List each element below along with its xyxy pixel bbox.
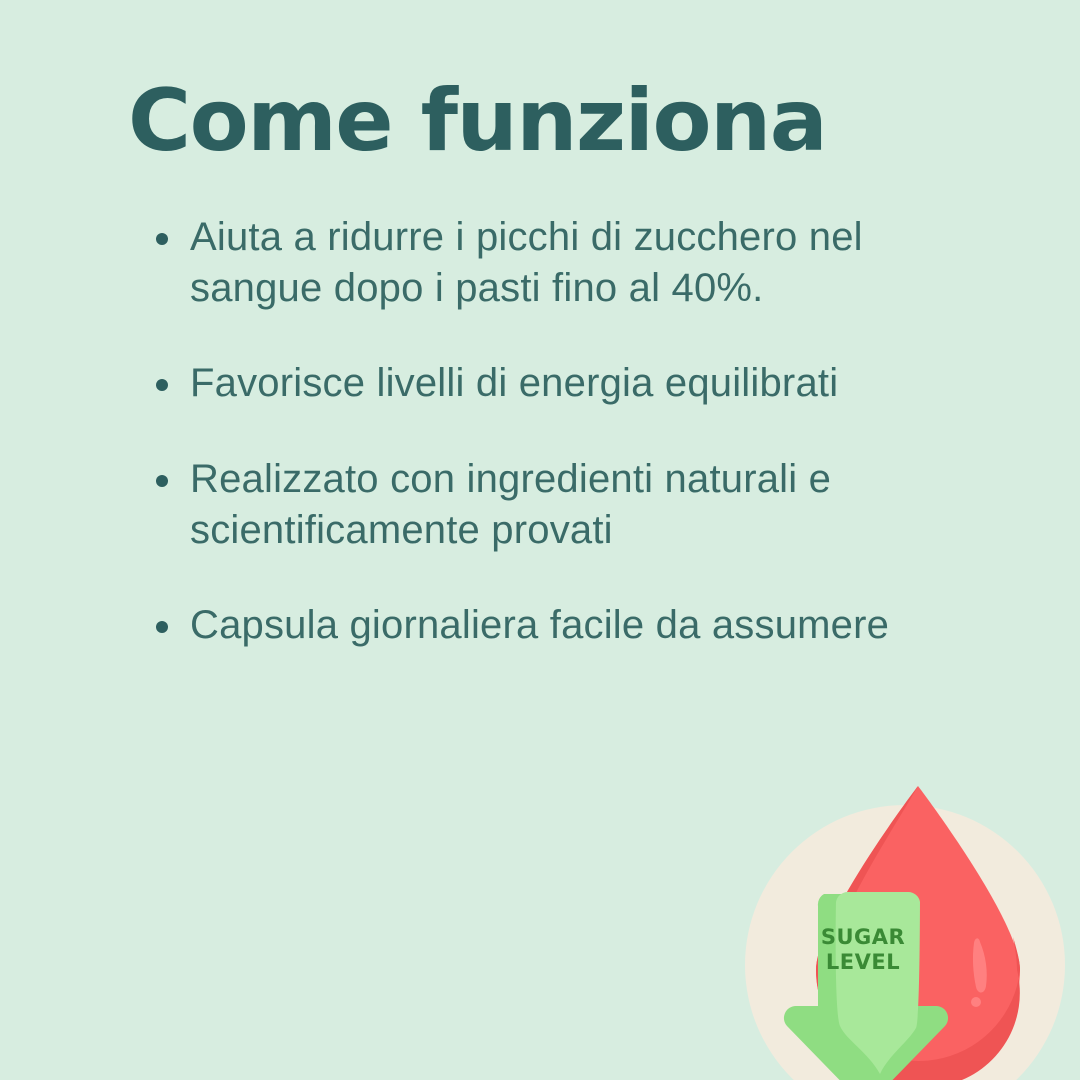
poster-canvas: Come funziona Aiuta a ridurre i picchi d… <box>0 0 1080 1080</box>
benefits-list: Aiuta a ridurre i picchi di zucchero nel… <box>150 212 1000 651</box>
list-item-label: Aiuta a ridurre i picchi di zucchero nel… <box>190 212 1000 314</box>
bullet-dot-icon <box>156 233 168 245</box>
page-title: Come funziona <box>128 78 1028 164</box>
list-item-label: Capsula giornaliera facile da assumere <box>190 600 1000 651</box>
bullet-dot-icon <box>156 475 168 487</box>
list-item-label: Realizzato con ingredienti naturali e sc… <box>190 454 1000 556</box>
blood-drop-sugar-level-illustration: SUGAR LEVEL <box>742 802 1080 1080</box>
sugar-label-line1: SUGAR <box>821 925 905 949</box>
bullet-dot-icon <box>156 379 168 391</box>
list-item: Aiuta a ridurre i picchi di zucchero nel… <box>150 212 1000 314</box>
list-item: Realizzato con ingredienti naturali e sc… <box>150 454 1000 556</box>
list-item: Capsula giornaliera facile da assumere <box>150 600 1000 651</box>
bullet-dot-icon <box>156 621 168 633</box>
list-item-label: Favorisce livelli di energia equilibrati <box>190 358 1000 409</box>
list-item: Favorisce livelli di energia equilibrati <box>150 358 1000 409</box>
sugar-label-line2: LEVEL <box>826 950 900 974</box>
